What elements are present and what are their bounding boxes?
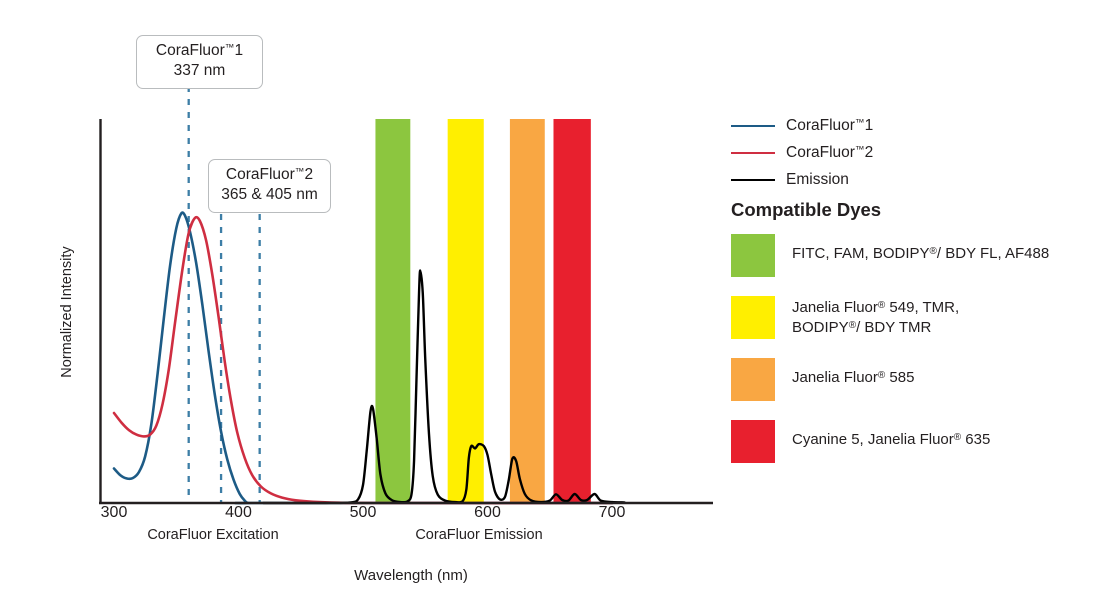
legend-series-row: Emission: [731, 166, 1101, 193]
trademark-icon: ™: [855, 144, 865, 155]
x-tick-500: 500: [350, 504, 377, 522]
registered-icon: ®: [930, 246, 937, 257]
dye-legend-row: FITC, FAM, BODIPY®/ BDY FL, AF488: [731, 233, 1106, 277]
legend-series-label: Emission: [786, 171, 849, 189]
trademark-icon: ™: [295, 166, 305, 177]
x-tick-700: 700: [599, 504, 626, 522]
x-tick-300: 300: [101, 504, 128, 522]
compatible-dyes-legend: FITC, FAM, BODIPY®/ BDY FL, AF488Janelia…: [731, 233, 1106, 481]
legend-series-row: CoraFluor™1: [731, 112, 1101, 139]
emission-region-caption: CoraFluor Emission: [415, 527, 542, 543]
callout-corafluor2: CoraFluor™2 365 & 405 nm: [208, 159, 331, 213]
y-axis-title: Normalized Intensity: [59, 202, 75, 422]
green-band: [375, 119, 410, 503]
callout-2-value: 365 & 405 nm: [219, 185, 320, 205]
trademark-icon: ™: [225, 42, 235, 53]
compatible-dyes-title: Compatible Dyes: [731, 199, 881, 221]
excitation-region-caption: CoraFluor Excitation: [147, 527, 278, 543]
x-tick-600: 600: [474, 504, 501, 522]
dye-color-swatch: [731, 296, 775, 339]
registered-icon: ®: [878, 370, 885, 381]
x-tick-400: 400: [225, 504, 252, 522]
dye-legend-row: Cyanine 5, Janelia Fluor® 635: [731, 419, 1106, 463]
dye-legend-row: Janelia Fluor® 585: [731, 357, 1106, 401]
dye-legend-row: Janelia Fluor® 549, TMR,BODIPY®/ BDY TMR: [731, 295, 1106, 339]
spectra-curves: [114, 213, 624, 504]
trademark-icon: ™: [855, 117, 865, 128]
dye-color-swatch: [731, 234, 775, 277]
dye-label: Cyanine 5, Janelia Fluor® 635: [792, 419, 990, 450]
callout-1-suffix: 1: [235, 42, 244, 59]
series-legend: CoraFluor™1CoraFluor™2Emission: [731, 112, 1101, 193]
legend-series-row: CoraFluor™2: [731, 139, 1101, 166]
callout-corafluor1: CoraFluor™1 337 nm: [136, 35, 263, 89]
callout-1-name: CoraFluor: [156, 42, 225, 59]
legend-line-swatch: [731, 125, 775, 127]
registered-icon: ®: [878, 300, 885, 311]
dye-label: Janelia Fluor® 585: [792, 357, 914, 388]
registered-icon: ®: [849, 320, 856, 331]
legend-line-swatch: [731, 152, 775, 154]
dye-label: FITC, FAM, BODIPY®/ BDY FL, AF488: [792, 233, 1049, 264]
legend-line-swatch: [731, 179, 775, 181]
spectra-figure: Normalized Intensity 300400500600700 Cor…: [0, 0, 1110, 612]
callout-2-name: CoraFluor: [226, 166, 295, 183]
legend-series-label: CoraFluor™1: [786, 117, 873, 135]
red-band: [553, 119, 590, 503]
dye-label: Janelia Fluor® 549, TMR,BODIPY®/ BDY TMR: [792, 295, 959, 338]
x-axis-title: Wavelength (nm): [354, 567, 468, 584]
dye-color-swatch: [731, 420, 775, 463]
legend-series-label: CoraFluor™2: [786, 144, 873, 162]
callout-2-suffix: 2: [305, 166, 314, 183]
orange-band: [510, 119, 545, 503]
dye-color-swatch: [731, 358, 775, 401]
callout-1-value: 337 nm: [147, 61, 252, 81]
registered-icon: ®: [954, 432, 961, 443]
